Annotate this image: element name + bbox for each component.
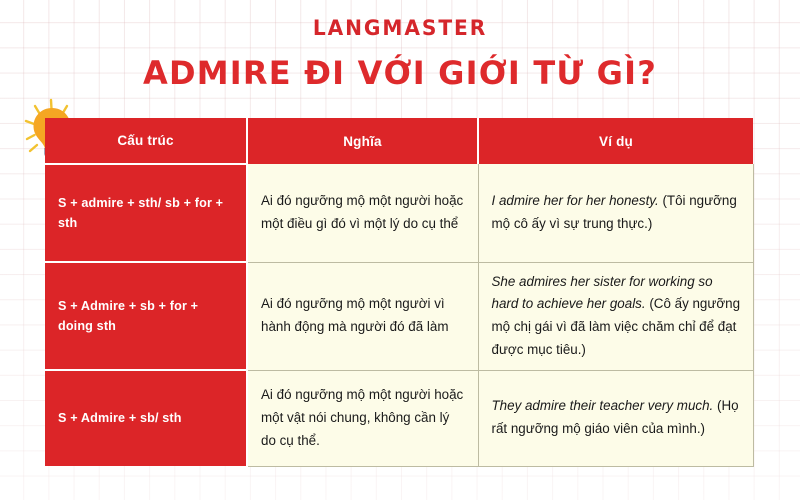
structures-table-container: Cấu trúc Nghĩa Ví dụ S + admire + sth/ s… — [45, 118, 753, 464]
table-row: S + admire + sth/ sb + for + sth Ai đó n… — [45, 164, 753, 262]
cell-meaning: Ai đó ngưỡng mộ một người hoặc một điều … — [247, 164, 478, 262]
brand-logo-text: LANGMASTER — [16, 16, 784, 40]
column-header-structure: Cấu trúc — [45, 118, 247, 164]
cell-structure: S + Admire + sb/ sth — [45, 370, 247, 466]
column-header-example: Ví dụ — [478, 118, 753, 164]
cell-example: I admire her for her honesty. (Tôi ngưỡn… — [478, 164, 753, 262]
structures-table: Cấu trúc Nghĩa Ví dụ S + admire + sth/ s… — [45, 118, 754, 467]
column-header-meaning: Nghĩa — [247, 118, 478, 164]
cell-meaning: Ai đó ngưỡng mộ một người vì hành động m… — [247, 262, 478, 370]
table-header-row: Cấu trúc Nghĩa Ví dụ — [45, 118, 753, 164]
cell-structure: S + Admire + sb + for + doing sth — [45, 262, 247, 370]
table-row: S + Admire + sb/ sth Ai đó ngưỡng mộ một… — [45, 370, 753, 466]
example-english: I admire her for her honesty. — [492, 193, 659, 208]
cell-structure: S + admire + sth/ sb + for + sth — [45, 164, 247, 262]
cell-meaning: Ai đó ngưỡng mộ một người hoặc một vật n… — [247, 370, 478, 466]
cell-example: She admires her sister for working so ha… — [478, 262, 753, 370]
cell-example: They admire their teacher very much. (Họ… — [478, 370, 753, 466]
example-english: They admire their teacher very much. — [492, 398, 714, 413]
table-row: S + Admire + sb + for + doing sth Ai đó … — [45, 262, 753, 370]
page-title: ADMIRE ĐI VỚI GIỚI TỪ GÌ? — [0, 54, 800, 92]
